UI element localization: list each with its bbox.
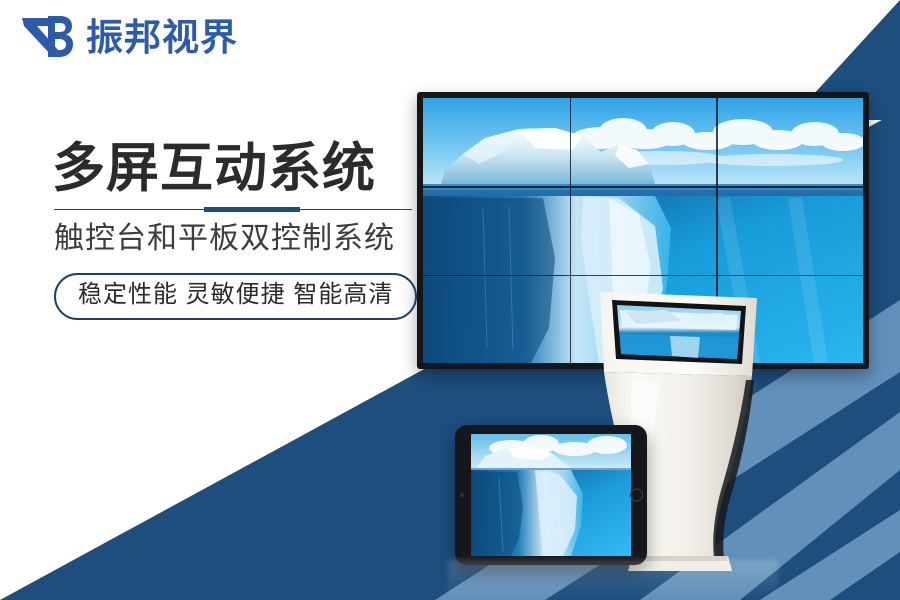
tablet-content-iceberg [471,434,631,556]
divider-accent [204,207,300,212]
title-divider [54,209,412,210]
brand-name: 振邦视界 [86,19,238,56]
zb-monogram-icon [18,12,74,62]
promo-banner: 振邦视界 多屏互动系统 触控台和平板双控制系统 稳定性能 灵敏便捷 智能高清 [0,0,900,600]
feature-badge: 稳定性能 灵敏便捷 智能高清 [54,273,417,320]
tablet-home-button[interactable] [630,489,643,502]
page-title: 多屏互动系统 [52,140,442,197]
brand-logo[interactable]: 振邦视界 [18,12,238,62]
hero-copy: 多屏互动系统 触控台和平板双控制系统 稳定性能 灵敏便捷 智能高清 [52,140,442,320]
hero-subtitle: 触控台和平板双控制系统 [54,222,442,257]
tablet-screen [471,434,631,556]
tablet-camera-icon [460,493,464,497]
tablet-device[interactable] [455,425,647,565]
